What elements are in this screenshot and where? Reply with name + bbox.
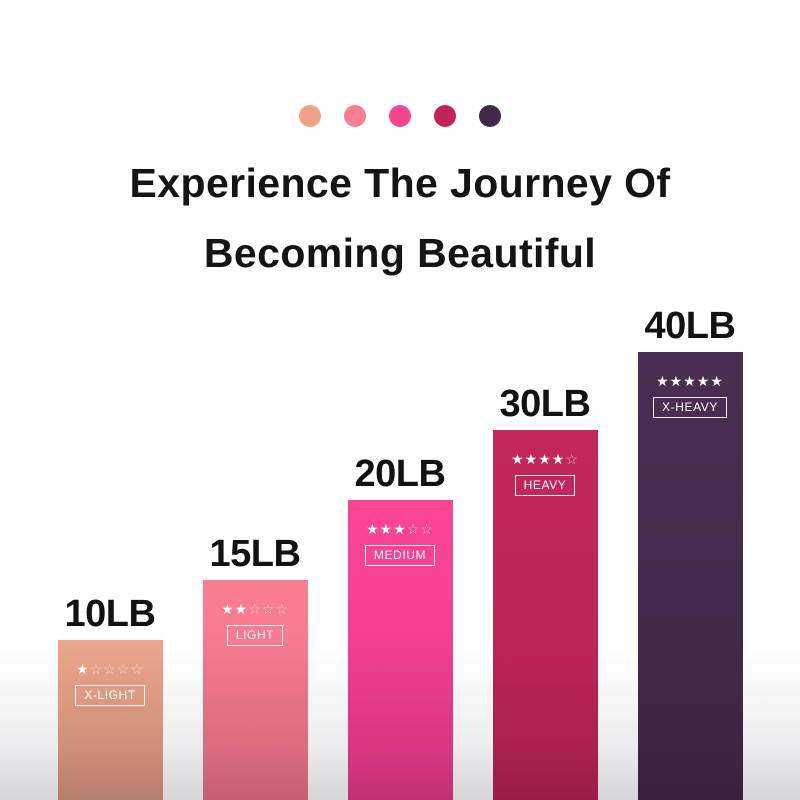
bar-weight-label: 30LB	[500, 385, 591, 423]
star-filled-icon: ★	[656, 373, 670, 389]
star-rating: ★★☆☆☆	[221, 602, 289, 616]
bar-10lb[interactable]: ★☆☆☆☆X-LIGHT	[58, 640, 163, 800]
star-empty-icon: ☆	[262, 601, 276, 617]
star-empty-icon: ☆	[275, 601, 289, 617]
star-empty-icon: ☆	[103, 661, 117, 677]
star-empty-icon: ☆	[407, 521, 421, 537]
bar-column-15lb: 15LB★★☆☆☆LIGHT	[203, 535, 308, 800]
star-rating: ★★★★☆	[511, 452, 579, 466]
star-filled-icon: ★	[538, 451, 552, 467]
color-swatch-row	[0, 105, 800, 127]
dot-medium	[389, 105, 411, 127]
star-filled-icon: ★	[683, 373, 697, 389]
bar-15lb[interactable]: ★★☆☆☆LIGHT	[203, 580, 308, 800]
star-empty-icon: ☆	[420, 521, 434, 537]
star-filled-icon: ★	[380, 521, 394, 537]
star-rating: ★☆☆☆☆	[76, 662, 144, 676]
bar-column-40lb: 40LB★★★★★X-HEAVY	[638, 307, 743, 800]
star-filled-icon: ★	[670, 373, 684, 389]
bar-column-20lb: 20LB★★★☆☆MEDIUM	[348, 455, 453, 800]
resistance-level-badge: MEDIUM	[365, 545, 435, 566]
star-empty-icon: ☆	[90, 661, 104, 677]
bar-column-10lb: 10LB★☆☆☆☆X-LIGHT	[58, 595, 163, 800]
dot-x-heavy	[479, 105, 501, 127]
page-title-line-2: Becoming Beautiful	[0, 218, 800, 288]
dot-x-light	[299, 105, 321, 127]
resistance-bar-chart: 10LB★☆☆☆☆X-LIGHT15LB★★☆☆☆LIGHT20LB★★★☆☆M…	[0, 240, 800, 800]
star-filled-icon: ★	[393, 521, 407, 537]
resistance-level-badge: X-LIGHT	[75, 685, 145, 706]
star-filled-icon: ★	[511, 451, 525, 467]
resistance-level-badge: X-HEAVY	[653, 397, 727, 418]
bar-weight-label: 20LB	[355, 455, 446, 493]
page-title: Experience The Journey Of Becoming Beaut…	[0, 148, 800, 288]
resistance-level-badge: LIGHT	[227, 625, 283, 646]
star-rating: ★★★★★	[656, 374, 724, 388]
star-filled-icon: ★	[221, 601, 235, 617]
bar-weight-label: 10LB	[65, 595, 156, 633]
star-filled-icon: ★	[710, 373, 724, 389]
page-title-line-1: Experience The Journey Of	[0, 148, 800, 218]
star-empty-icon: ☆	[565, 451, 579, 467]
bar-40lb[interactable]: ★★★★★X-HEAVY	[638, 352, 743, 800]
resistance-band-poster: Experience The Journey Of Becoming Beaut…	[0, 0, 800, 800]
star-filled-icon: ★	[552, 451, 566, 467]
star-empty-icon: ☆	[130, 661, 144, 677]
star-empty-icon: ☆	[117, 661, 131, 677]
dot-heavy	[434, 105, 456, 127]
star-filled-icon: ★	[76, 661, 90, 677]
star-empty-icon: ☆	[248, 601, 262, 617]
star-filled-icon: ★	[235, 601, 249, 617]
bar-20lb[interactable]: ★★★☆☆MEDIUM	[348, 500, 453, 800]
bar-weight-label: 40LB	[645, 307, 736, 345]
star-filled-icon: ★	[525, 451, 539, 467]
star-rating: ★★★☆☆	[366, 522, 434, 536]
bar-column-30lb: 30LB★★★★☆HEAVY	[493, 385, 598, 800]
dot-light	[344, 105, 366, 127]
bar-30lb[interactable]: ★★★★☆HEAVY	[493, 430, 598, 800]
bar-weight-label: 15LB	[210, 535, 301, 573]
resistance-level-badge: HEAVY	[515, 475, 576, 496]
star-filled-icon: ★	[697, 373, 711, 389]
star-filled-icon: ★	[366, 521, 380, 537]
